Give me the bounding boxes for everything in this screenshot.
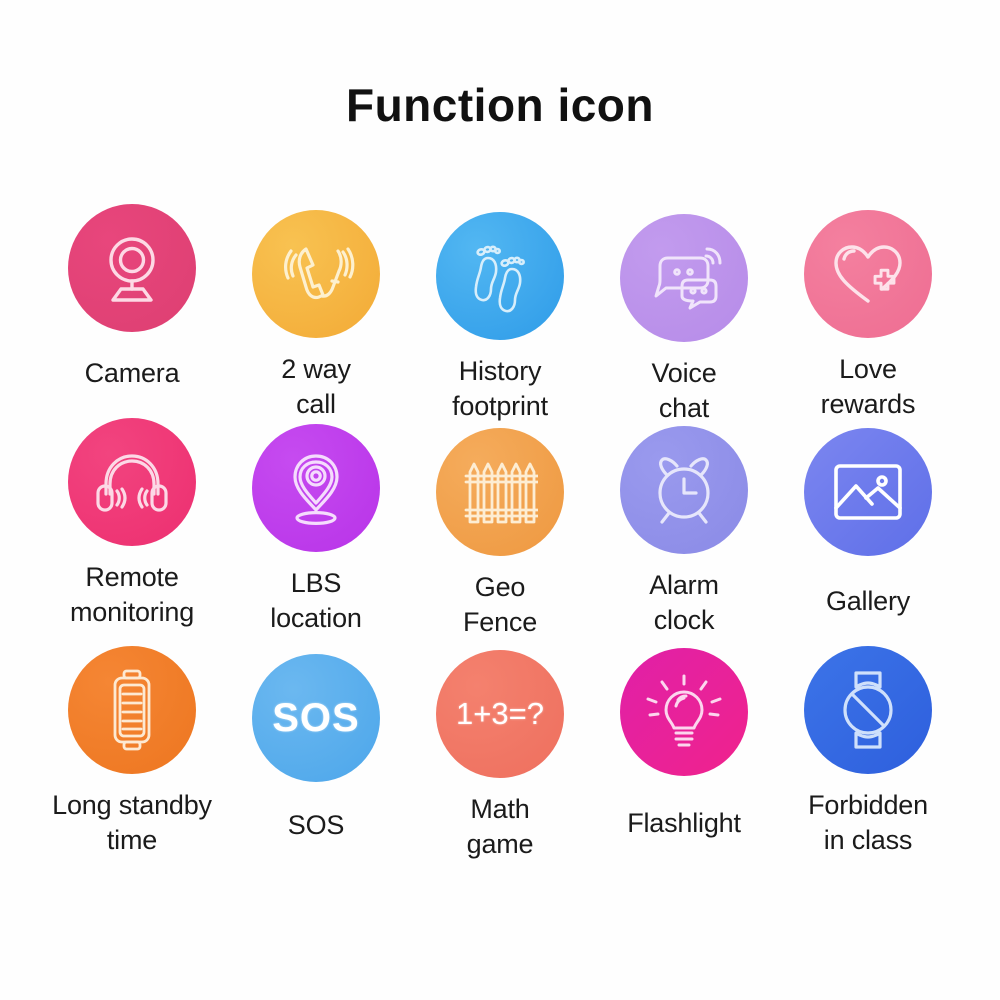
grid-item-flashlight[interactable]: Flashlight bbox=[592, 646, 776, 841]
grid-item-label: LBS location bbox=[270, 566, 361, 635]
speech-bubbles-icon bbox=[644, 242, 724, 314]
sos-disc[interactable]: SOS bbox=[252, 654, 380, 782]
grid-item-math-game[interactable]: 1+3=? Math game bbox=[408, 646, 592, 861]
two-way-call-disc[interactable] bbox=[252, 210, 380, 338]
grid-item-label: Geo Fence bbox=[463, 570, 537, 639]
remote-monitoring-disc[interactable] bbox=[68, 418, 196, 546]
voice-chat-disc[interactable] bbox=[620, 214, 748, 342]
phone-handset-icon bbox=[276, 235, 356, 313]
grid-item-label: Long standby time bbox=[52, 788, 212, 857]
grid-item-label: History footprint bbox=[452, 354, 548, 423]
grid-item-history-footprint[interactable]: History footprint bbox=[408, 190, 592, 423]
heart-plus-icon bbox=[828, 237, 908, 311]
love-rewards-disc[interactable] bbox=[804, 210, 932, 338]
map-pin-icon bbox=[277, 448, 355, 528]
function-icon-poster: Function icon Camera bbox=[0, 0, 1000, 1000]
flashlight-disc[interactable] bbox=[620, 648, 748, 776]
grid-item-label: 2 way call bbox=[281, 352, 351, 421]
grid-item-label: Voice chat bbox=[651, 356, 716, 425]
grid-item-gallery[interactable]: Gallery bbox=[776, 418, 960, 619]
webcam-icon bbox=[93, 229, 171, 307]
grid-item-label: Camera bbox=[85, 356, 180, 391]
footprints-icon bbox=[460, 236, 540, 316]
sos-text-icon: SOS bbox=[272, 696, 359, 741]
grid-item-label: Alarm clock bbox=[649, 568, 719, 637]
grid-item-label: Forbidden in class bbox=[808, 788, 928, 857]
grid-item-label: Flashlight bbox=[627, 806, 741, 841]
grid-item-forbidden-in-class[interactable]: Forbidden in class bbox=[776, 646, 960, 857]
grid-item-2-way-call[interactable]: 2 way call bbox=[224, 190, 408, 421]
headphones-icon bbox=[90, 446, 174, 518]
math-game-disc[interactable]: 1+3=? bbox=[436, 650, 564, 778]
grid-item-label: Math game bbox=[467, 792, 534, 861]
gallery-disc[interactable] bbox=[804, 428, 932, 556]
grid-item-label: Gallery bbox=[826, 584, 910, 619]
math-equation-icon: 1+3=? bbox=[456, 696, 544, 732]
battery-icon bbox=[105, 669, 159, 751]
icon-row-2: Remote monitoring LBS location bbox=[40, 418, 960, 646]
grid-item-lbs-location[interactable]: LBS location bbox=[224, 418, 408, 635]
icon-row-1: Camera bbox=[40, 190, 960, 418]
geo-fence-disc[interactable] bbox=[436, 428, 564, 556]
lbs-location-disc[interactable] bbox=[252, 424, 380, 552]
grid-item-label: Love rewards bbox=[821, 352, 916, 421]
grid-item-alarm-clock[interactable]: Alarm clock bbox=[592, 418, 776, 637]
grid-item-label: SOS bbox=[288, 808, 344, 843]
camera-disc[interactable] bbox=[68, 204, 196, 332]
icon-grid: Camera bbox=[40, 190, 960, 874]
grid-item-label: Remote monitoring bbox=[70, 560, 194, 629]
photo-icon bbox=[830, 460, 906, 524]
watch-forbidden-icon bbox=[836, 669, 900, 751]
grid-item-remote-monitoring[interactable]: Remote monitoring bbox=[40, 418, 224, 629]
icon-row-3: Long standby time SOS SOS 1+3=? Math gam… bbox=[40, 646, 960, 874]
light-bulb-icon bbox=[645, 672, 723, 752]
fence-icon bbox=[462, 456, 538, 528]
alarm-clock-disc[interactable] bbox=[620, 426, 748, 554]
grid-item-geo-fence[interactable]: Geo Fence bbox=[408, 418, 592, 639]
grid-item-love-rewards[interactable]: Love rewards bbox=[776, 190, 960, 421]
page-title: Function icon bbox=[0, 78, 1000, 132]
grid-item-sos[interactable]: SOS SOS bbox=[224, 646, 408, 843]
grid-item-long-standby-time[interactable]: Long standby time bbox=[40, 646, 224, 857]
grid-item-voice-chat[interactable]: Voice chat bbox=[592, 190, 776, 425]
forbidden-in-class-disc[interactable] bbox=[804, 646, 932, 774]
grid-item-camera[interactable]: Camera bbox=[40, 190, 224, 391]
history-footprint-disc[interactable] bbox=[436, 212, 564, 340]
long-standby-disc[interactable] bbox=[68, 646, 196, 774]
alarm-clock-icon bbox=[645, 451, 723, 529]
